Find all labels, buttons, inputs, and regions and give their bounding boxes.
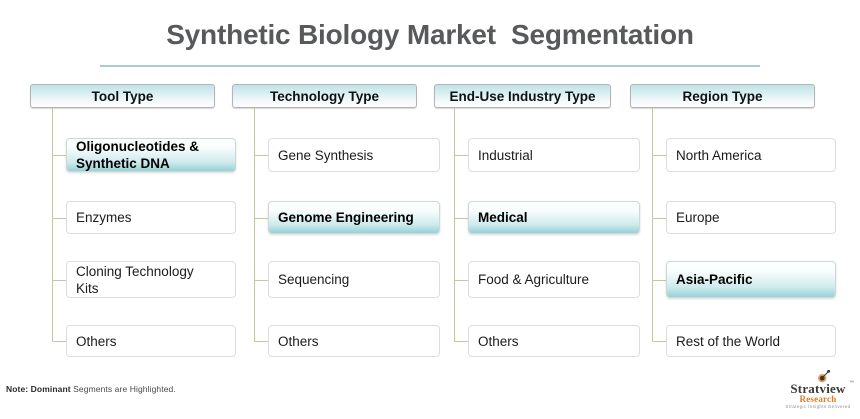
segment-node-1-1[interactable]: Oligonucleotides & Synthetic DNA xyxy=(66,138,236,172)
segment-node-2-4[interactable]: Others xyxy=(268,325,440,357)
connector-branch-3-4 xyxy=(454,341,468,342)
segment-node-1-3[interactable]: Cloning Technology Kits xyxy=(66,261,236,298)
footer-note-bold: Note: Dominant xyxy=(6,384,71,394)
segment-node-label: Europe xyxy=(676,209,720,226)
segment-node-label: Enzymes xyxy=(76,209,132,226)
segment-node-label: Rest of the World xyxy=(676,333,780,350)
segment-node-1-4[interactable]: Others xyxy=(66,325,236,357)
logo-trademark: ™ xyxy=(849,380,854,386)
connector-stem-1 xyxy=(52,108,53,341)
connector-branch-1-1 xyxy=(52,155,66,156)
segment-node-3-4[interactable]: Others xyxy=(468,325,640,357)
connector-branch-2-3 xyxy=(254,280,268,281)
segment-node-label: Others xyxy=(278,333,319,350)
logo-tagline: Strategic Insights Delivered xyxy=(780,404,856,409)
segment-node-4-4[interactable]: Rest of the World xyxy=(666,325,836,357)
segment-node-label: North America xyxy=(676,147,762,164)
segment-node-3-1[interactable]: Industrial xyxy=(468,138,640,172)
footer-note-rest: Segments are Highlighted. xyxy=(71,384,176,394)
segment-node-1-2[interactable]: Enzymes xyxy=(66,201,236,234)
segment-node-2-1[interactable]: Gene Synthesis xyxy=(268,138,440,172)
connector-branch-3-3 xyxy=(454,280,468,281)
segment-node-3-2[interactable]: Medical xyxy=(468,201,640,234)
connector-branch-3-1 xyxy=(454,155,468,156)
segment-node-label: Industrial xyxy=(478,147,533,164)
segment-node-label: Others xyxy=(76,333,117,350)
segment-node-2-2[interactable]: Genome Engineering xyxy=(268,201,440,234)
segment-node-label: Medical xyxy=(478,209,528,226)
connector-branch-4-1 xyxy=(652,155,666,156)
connector-branch-3-2 xyxy=(454,218,468,219)
connector-branch-4-4 xyxy=(652,341,666,342)
segment-node-3-3[interactable]: Food & Agriculture xyxy=(468,261,640,298)
segmentation-diagram: Tool TypeOligonucleotides & Synthetic DN… xyxy=(0,0,860,419)
connector-branch-4-2 xyxy=(652,218,666,219)
connector-stem-4 xyxy=(652,108,653,341)
connector-stem-2 xyxy=(254,108,255,341)
connector-branch-1-4 xyxy=(52,341,66,342)
segment-node-label: Cloning Technology Kits xyxy=(76,263,194,297)
footer-note: Note: Dominant Segments are Highlighted. xyxy=(6,384,176,394)
connector-branch-2-1 xyxy=(254,155,268,156)
segment-node-label: Gene Synthesis xyxy=(278,147,373,164)
column-header-1[interactable]: Tool Type xyxy=(30,84,215,108)
segment-node-label: Others xyxy=(478,333,519,350)
connector-branch-1-3 xyxy=(52,280,66,281)
segment-node-label: Food & Agriculture xyxy=(478,271,589,288)
connector-branch-2-2 xyxy=(254,218,268,219)
segment-node-label: Genome Engineering xyxy=(278,209,414,226)
segment-node-2-3[interactable]: Sequencing xyxy=(268,261,440,298)
segment-node-label: Sequencing xyxy=(278,271,349,288)
segment-node-4-2[interactable]: Europe xyxy=(666,201,836,234)
connector-branch-2-4 xyxy=(254,341,268,342)
segment-node-4-3[interactable]: Asia-Pacific xyxy=(666,261,836,298)
connector-stem-3 xyxy=(454,108,455,341)
segment-node-label: Asia-Pacific xyxy=(676,271,753,288)
segment-node-4-1[interactable]: North America xyxy=(666,138,836,172)
stratview-research-logo[interactable]: Stratview ™ Research Strategic Insights … xyxy=(780,370,856,412)
column-header-2[interactable]: Technology Type xyxy=(232,84,417,108)
logo-brand-sub: Research xyxy=(780,394,856,404)
column-header-3[interactable]: End-Use Industry Type xyxy=(434,84,611,108)
connector-branch-1-2 xyxy=(52,218,66,219)
connector-branch-4-3 xyxy=(652,280,666,281)
column-header-4[interactable]: Region Type xyxy=(630,84,815,108)
segment-node-label: Oligonucleotides & Synthetic DNA xyxy=(76,138,199,172)
